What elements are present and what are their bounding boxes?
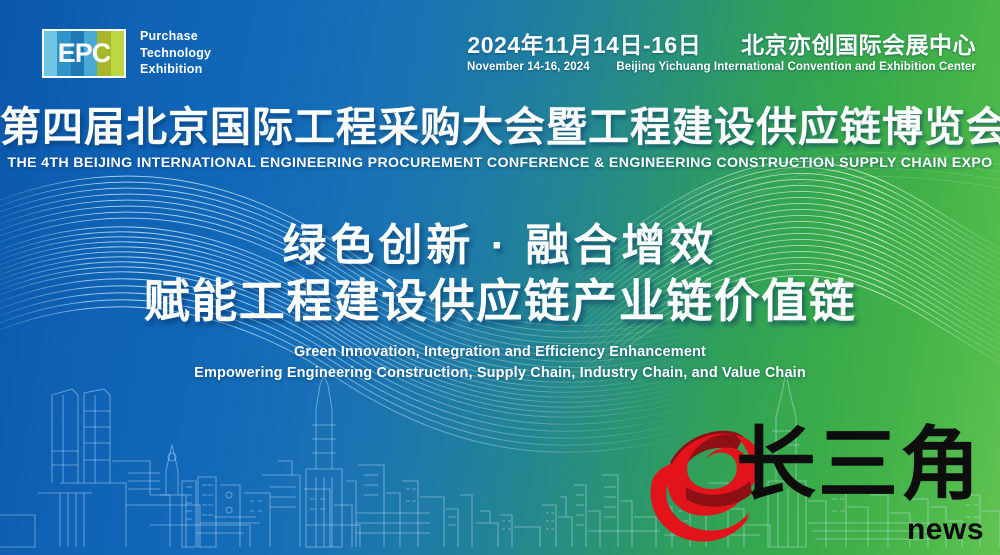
event-title-en: THE 4TH BEIJING INTERNATIONAL ENGINEERIN…	[0, 155, 1000, 171]
epc-logo: EPC Purchase Technology Exhibition	[42, 28, 211, 78]
poster-header: EPC Purchase Technology Exhibition 2024年…	[0, 18, 1000, 88]
event-meta-en: November 14-16, 2024 Beijing Yichuang In…	[467, 61, 976, 73]
event-venue-cn: 北京亦创国际会展中心	[741, 32, 976, 58]
brand-logo[interactable]: 长三角 news	[640, 419, 990, 549]
slogan-line-2-cn: 赋能工程建设供应链产业链价值链	[0, 276, 1000, 328]
slogan-line-2-en: Empowering Engineering Construction, Sup…	[0, 363, 1000, 384]
logo-name-line-3: Exhibition	[140, 61, 211, 78]
slogan-line-1-en: Green Innovation, Integration and Effici…	[0, 342, 1000, 363]
epc-logo-name: Purchase Technology Exhibition	[140, 28, 211, 78]
epc-logo-letters: EPC	[44, 31, 124, 76]
event-venue-en: Beijing Yichuang International Conventio…	[616, 61, 976, 73]
brand-name-cn: 长三角	[736, 425, 982, 505]
epc-logo-mark: EPC	[42, 29, 126, 78]
event-poster: EPC Purchase Technology Exhibition 2024年…	[0, 0, 1000, 555]
brand-name-en: news	[907, 515, 984, 545]
event-meta: 2024年11月14日-16日 北京亦创国际会展中心 November 14-1…	[467, 33, 976, 73]
event-slogan: 绿色创新 · 融合增效 赋能工程建设供应链产业链价值链 Green Innova…	[0, 222, 1000, 384]
event-title: 第四届北京国际工程采购大会暨工程建设供应链博览会 THE 4TH BEIJING…	[0, 105, 1000, 171]
event-date-cn: 2024年11月14日-16日	[467, 32, 701, 58]
logo-name-line-1: Purchase	[140, 28, 211, 45]
slogan-en: Green Innovation, Integration and Effici…	[0, 342, 1000, 384]
slogan-line-1-cn: 绿色创新 · 融合增效	[0, 222, 1000, 270]
event-meta-cn: 2024年11月14日-16日 北京亦创国际会展中心	[467, 33, 976, 57]
event-title-cn: 第四届北京国际工程采购大会暨工程建设供应链博览会	[0, 105, 1000, 149]
event-date-en: November 14-16, 2024	[467, 61, 590, 73]
logo-name-line-2: Technology	[140, 45, 211, 62]
